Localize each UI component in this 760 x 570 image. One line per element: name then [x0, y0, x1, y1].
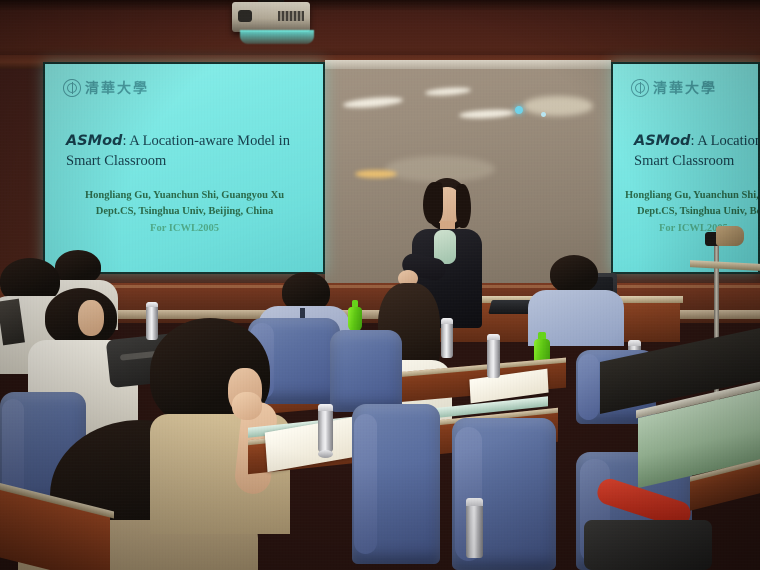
audience-hand-c: [232, 392, 262, 420]
audience-head-right: [550, 255, 598, 293]
slide-title-right: ASMod: A Location-aware Model in Smart C…: [634, 132, 760, 171]
slide-title-rest: : A Location-aware Model in: [122, 133, 290, 149]
slide-title-rest-right: : A Location-aware Model in: [690, 133, 760, 149]
black-backpack: [584, 520, 712, 570]
tsinghua-university-seal-icon: [631, 79, 649, 97]
projector-lens: [238, 10, 252, 22]
chair-mid-2: [330, 330, 402, 412]
camera-body-icon: [716, 226, 744, 246]
desk-microphone-base-left: [146, 302, 158, 340]
logo-text-right: 清華大學: [653, 78, 717, 98]
logo-text: 清華大學: [85, 78, 149, 98]
desk-microphone-base-front: [318, 404, 333, 452]
presenter-hair-right: [456, 184, 471, 228]
desk-microphone-base-1: [441, 318, 453, 358]
mic-foot: [318, 450, 333, 458]
slide-title-emphasis-right: ASMod: [634, 133, 690, 149]
audience-face-b: [78, 300, 104, 336]
slide-affiliation: Dept.CS, Tsinghua Univ, Beijing, China: [57, 204, 312, 220]
desk-microphone-base-2: [487, 334, 500, 378]
slide-affiliation-right: Dept.CS, Tsinghua Univ, Beijing, China: [625, 204, 760, 220]
presenter-hair-left: [423, 182, 443, 224]
left-projection-screen: 清華大學 ASMod: A Location-aware Model in Sm…: [43, 62, 325, 274]
photo-scene: 清華大學 ASMod: A Location-aware Model in Sm…: [0, 0, 760, 570]
slide-authors: Hongliang Gu, Yuanchun Shi, Guangyou Xu: [57, 188, 312, 204]
ceiling-projector-icon: [232, 2, 310, 32]
slide-title-emphasis: ASMod: [66, 133, 122, 149]
slide-title-line2-right: Smart Classroom: [634, 153, 734, 169]
slide-title: ASMod: A Location-aware Model in Smart C…: [66, 132, 316, 171]
slide-logo-right: 清華大學: [631, 78, 717, 98]
audience-head-far-left: [55, 250, 101, 284]
slide-logo: 清華大學: [63, 78, 149, 98]
slide-title-line2: Smart Classroom: [66, 153, 166, 169]
slide-conference: For ICWL2005: [57, 221, 312, 237]
slide-authors-block: Hongliang Gu, Yuanchun Shi, Guangyou Xu …: [57, 188, 312, 237]
tsinghua-university-seal-icon: [63, 79, 81, 97]
slide-authors-right: Hongliang Gu, Yuanchun Shi, Guangyou Xu: [625, 188, 760, 204]
projector-light-glow: [240, 30, 314, 44]
desk-microphone-base-front-right: [466, 498, 483, 558]
projector-vent: [278, 11, 304, 21]
chair-front-1: [352, 404, 440, 564]
